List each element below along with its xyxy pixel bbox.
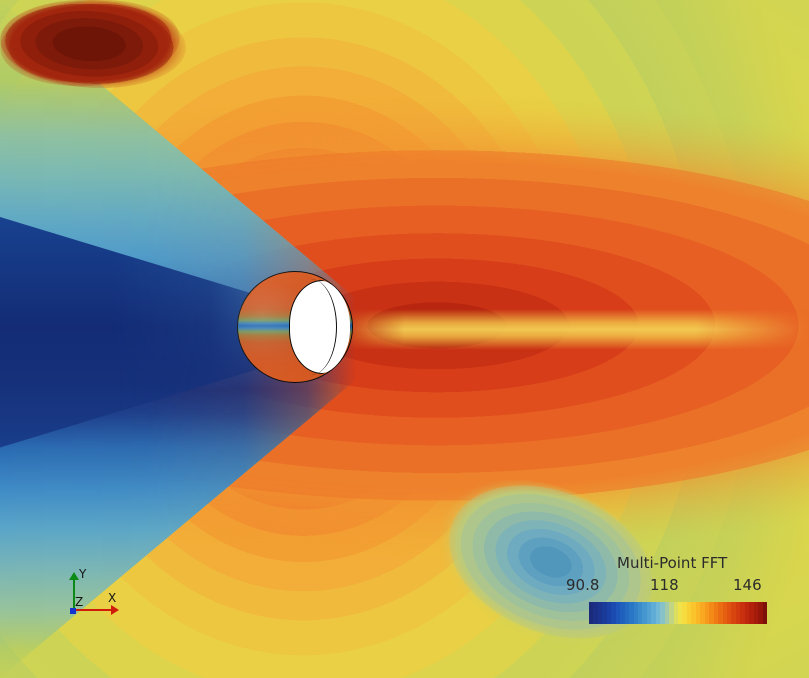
orientation-axes-widget[interactable]: X Y Z [66, 566, 122, 618]
contour-hot-lobe-upper [0, 0, 183, 92]
y-axis-label: Y [79, 568, 86, 580]
scalar-bar-title: Multi-Point FFT [617, 556, 727, 571]
sphere-body-geometry[interactable] [237, 271, 353, 383]
scalar-bar-swatch [763, 602, 768, 624]
x-axis-label: X [108, 592, 116, 604]
scalar-bar-tick-mid: 118 [650, 578, 679, 593]
scalar-bar-legend[interactable]: Multi-Point FFT 90.8 118 146 [566, 556, 776, 628]
x-axis-arrow-icon [73, 609, 113, 611]
contour-vortex-upper-right [415, 0, 687, 216]
scalar-bar-color-strip[interactable] [589, 602, 767, 624]
scalar-bar-tick-min: 90.8 [566, 578, 599, 593]
render-view[interactable]: X Y Z Multi-Point FFT 90.8 118 146 [0, 0, 809, 678]
sphere-cutaway-edge [285, 279, 337, 375]
y-axis-arrowhead-icon [69, 572, 79, 580]
x-axis-arrowhead-icon [111, 605, 119, 615]
contour-hot-lobe-lower [0, 0, 188, 93]
scalar-bar-tick-max: 146 [733, 578, 762, 593]
z-axis-label: Z [75, 596, 83, 608]
